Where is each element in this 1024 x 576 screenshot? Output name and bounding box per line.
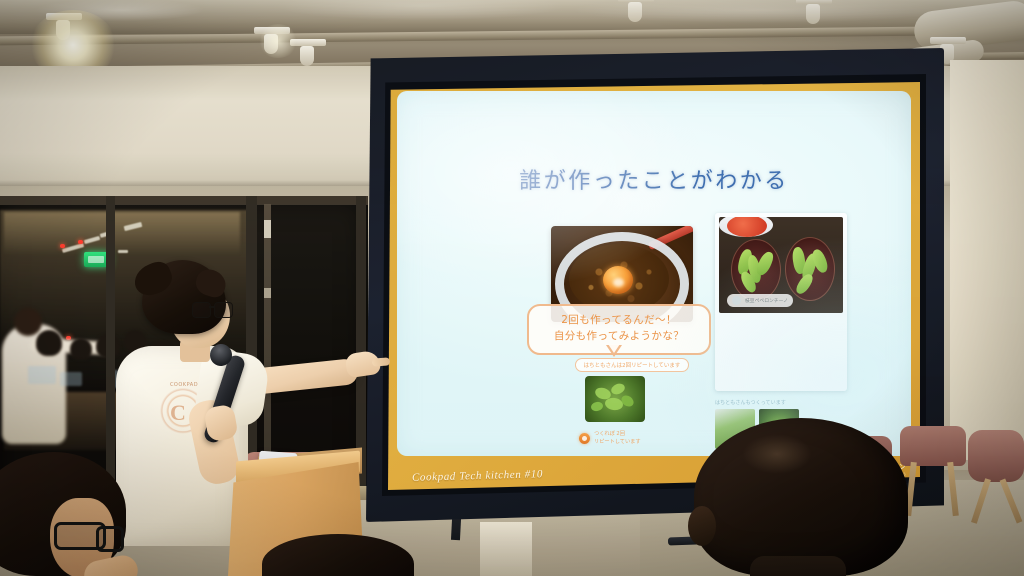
- audience-front-right: [694, 418, 908, 576]
- photo-scene: 誰が作ったことがわかる 2回も作ってるんだ〜！ 自分も作ってみようかな？: [0, 0, 1024, 576]
- window-mullion: [0, 196, 368, 205]
- window-post-highlight: [264, 220, 271, 238]
- right-wall: [950, 60, 1024, 460]
- salad-thumbnail: [585, 376, 645, 422]
- repeat-chip: はちともさんは2回リピートしています: [575, 358, 689, 372]
- recipe-card: 枝豆ペペロンチーノ: [715, 213, 847, 391]
- reflected-indicator-light: [60, 244, 65, 248]
- track-spotlight: [806, 4, 820, 24]
- reflected-audience-head: [36, 330, 62, 356]
- track-spotlight: [264, 34, 278, 54]
- reflected-audience-head: [70, 338, 92, 360]
- repeat-badge-line2: リピートしています: [594, 438, 641, 446]
- shirt-graphic-letter: C: [170, 400, 186, 426]
- speech-bubble-line1: 2回も作ってるんだ〜！: [533, 313, 705, 329]
- edamame-photo: 枝豆ペペロンチーノ: [719, 217, 843, 313]
- photo-caption-text: 枝豆ペペロンチーノ: [745, 297, 788, 304]
- slide-title: 誰が作ったことがわかる: [397, 163, 911, 195]
- window-reflection-ceiling: [4, 212, 240, 254]
- speech-bubble-tail: [606, 345, 622, 357]
- avatar: [732, 296, 741, 305]
- egg-yolk-highlight: [613, 278, 624, 287]
- slide-body: 誰が作ったことがわかる 2回も作ってるんだ〜！ 自分も作ってみようかな？: [397, 91, 911, 456]
- audience-front-center: [262, 534, 414, 576]
- track-spotlight: [300, 46, 314, 66]
- event-watermark: Cookpad Tech kitchen #10: [412, 468, 543, 484]
- repeat-badge-icon: [579, 433, 590, 444]
- reflected-indicator-light: [78, 240, 83, 244]
- repeat-badge-line1: つくれぽ 2回: [594, 430, 641, 438]
- feed-label: はちともさんもつくっています: [715, 399, 847, 406]
- photo-caption-chip: 枝豆ペペロンチーノ: [727, 294, 793, 307]
- track-spotlight: [628, 2, 642, 22]
- speech-bubble-line2: 自分も作ってみようかな？: [533, 329, 705, 345]
- repeat-badge-row: つくれぽ 2回 リピートしています: [579, 430, 709, 447]
- audience-front-left: [0, 452, 156, 576]
- reflected-presenter-head: [14, 308, 42, 336]
- presenter-glasses-icon: [192, 302, 232, 317]
- reflected-laptop-screen: [28, 366, 56, 384]
- track-spotlight: [56, 20, 70, 40]
- reflected-laptop-screen: [60, 372, 82, 386]
- presenter-index-finger: [372, 357, 391, 366]
- reflected-light-strip: [118, 250, 128, 253]
- audience-glasses-icon: [96, 526, 124, 552]
